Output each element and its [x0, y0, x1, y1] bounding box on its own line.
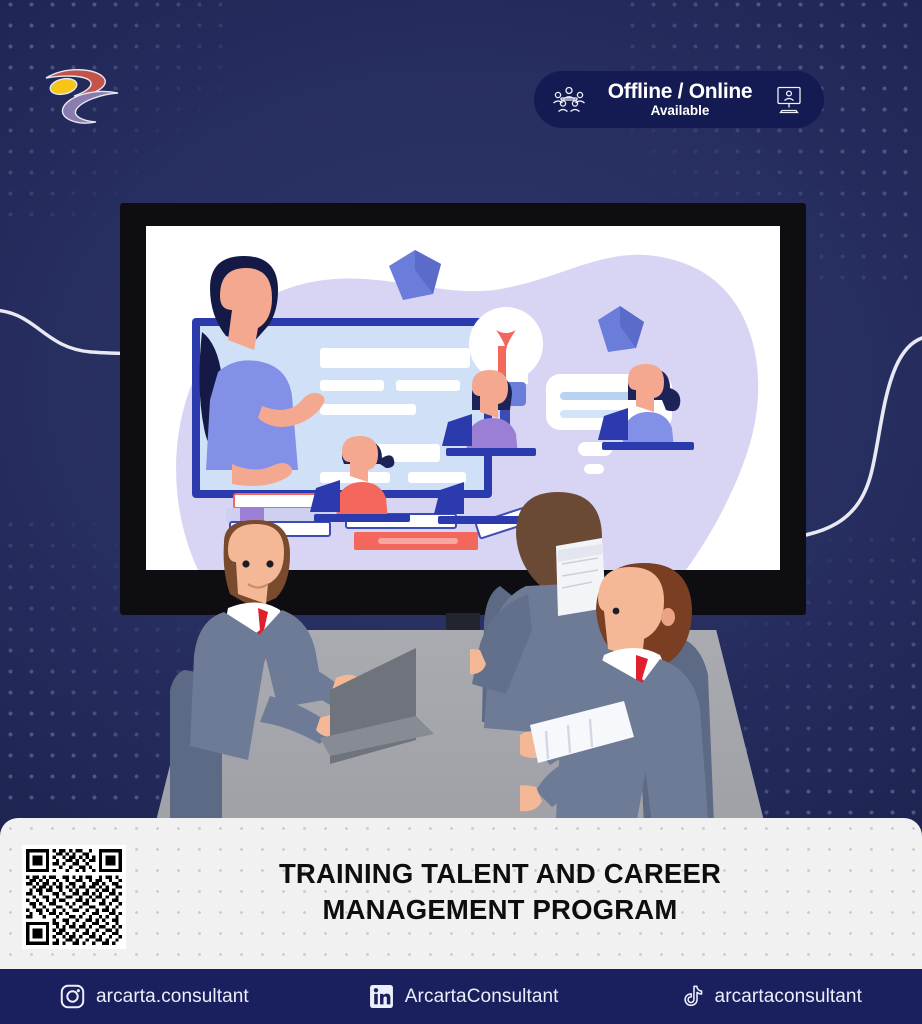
man-gray-suit-red-tie	[520, 555, 780, 825]
tiktok-icon	[679, 984, 704, 1009]
social-link-tiktok[interactable]: arcartaconsultant	[679, 984, 862, 1009]
instagram-handle: arcarta.consultant	[96, 986, 249, 1008]
qr-code-image	[26, 849, 122, 945]
instagram-icon	[60, 984, 85, 1009]
linkedin-icon	[369, 984, 394, 1009]
badge-subtitle: Available	[586, 104, 774, 118]
poster-canvas: Offline / Online Available	[0, 0, 922, 1024]
availability-badge[interactable]: Offline / Online Available	[534, 71, 824, 128]
badge-title: Offline / Online	[586, 81, 774, 103]
page-title: TRAINING TALENT AND CAREER MANAGEMENT PR…	[150, 856, 850, 928]
woman-gray-suit-laptop	[170, 520, 450, 820]
arcarta-logo[interactable]	[40, 60, 126, 130]
badge-text-group: Offline / Online Available	[586, 81, 774, 118]
title-line-1: TRAINING TALENT AND CAREER	[150, 856, 850, 892]
linkedin-handle: ArcartaConsultant	[405, 986, 559, 1008]
social-link-instagram[interactable]: arcarta.consultant	[60, 984, 249, 1009]
qr-code[interactable]	[22, 845, 126, 949]
title-line-2: MANAGEMENT PROGRAM	[150, 892, 850, 928]
tiktok-handle: arcartaconsultant	[715, 986, 862, 1008]
social-links-bar: arcarta.consultant ArcartaConsultant arc…	[0, 969, 922, 1024]
group-meeting-icon	[552, 85, 586, 115]
bottom-info-panel: TRAINING TALENT AND CAREER MANAGEMENT PR…	[0, 818, 922, 1024]
social-link-linkedin[interactable]: ArcartaConsultant	[369, 984, 559, 1009]
monitor-person-icon	[774, 86, 804, 114]
